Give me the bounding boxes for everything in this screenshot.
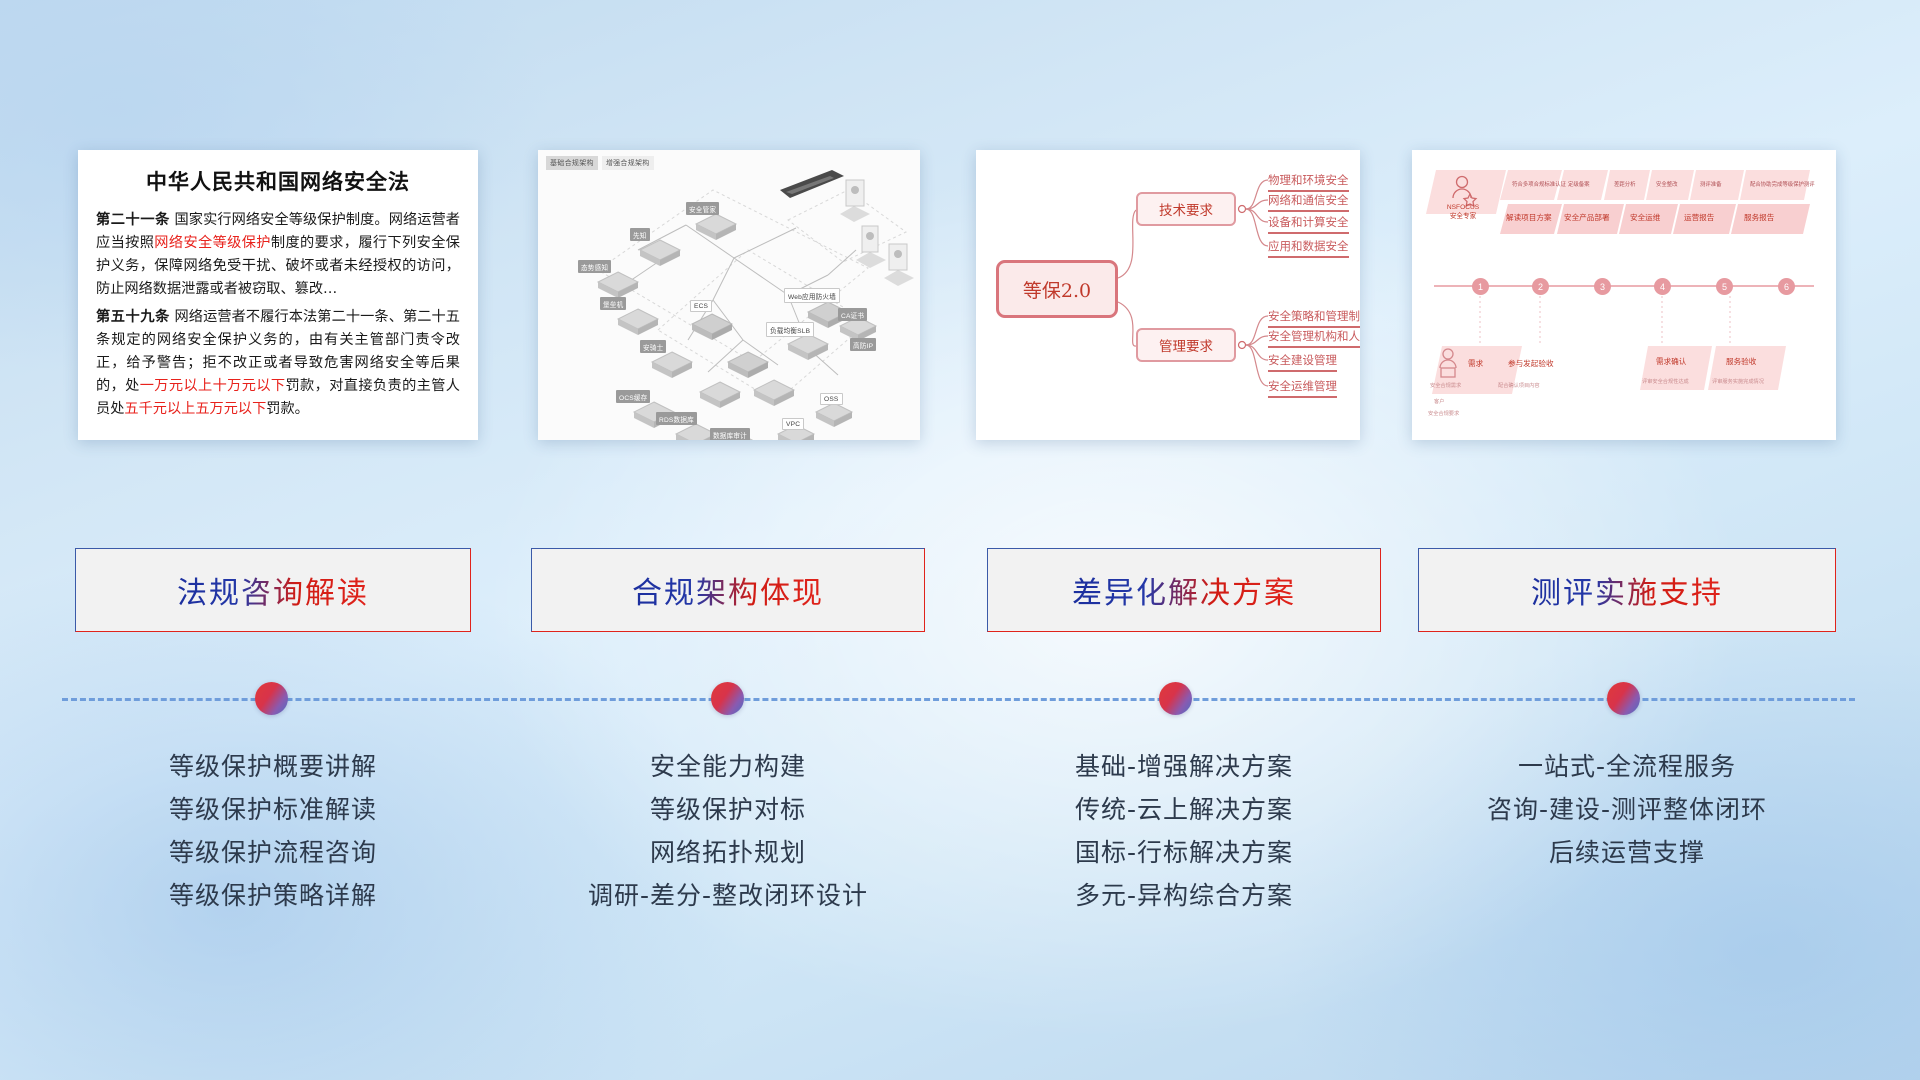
section-title-1: 法规咨询解读	[177, 568, 369, 612]
list-item: 等级保护标准解读	[75, 788, 471, 831]
section-title-2: 合规架构体现	[632, 568, 824, 612]
section-title-box-2[interactable]: 合规架构体现	[531, 548, 925, 632]
section-title-3: 差异化解决方案	[1072, 568, 1296, 612]
list-item: 等级保护概要讲解	[75, 745, 471, 788]
section-items-3: 基础-增强解决方案 传统-云上解决方案 国标-行标解决方案 多元-异构综合方案	[987, 745, 1381, 917]
section-title-box-4[interactable]: 测评实施支持	[1418, 548, 1836, 632]
timeline-marker-1[interactable]	[255, 682, 288, 715]
list-item: 后续运营支撑	[1418, 831, 1836, 874]
list-item: 咨询-建设-测评整体闭环	[1418, 788, 1836, 831]
list-item: 基础-增强解决方案	[987, 745, 1381, 788]
list-item: 等级保护流程咨询	[75, 831, 471, 874]
list-item: 调研-差分-整改闭环设计	[531, 874, 925, 917]
list-item: 国标-行标解决方案	[987, 831, 1381, 874]
list-item: 一站式-全流程服务	[1418, 745, 1836, 788]
section-title-box-3[interactable]: 差异化解决方案	[987, 548, 1381, 632]
section-items-1: 等级保护概要讲解 等级保护标准解读 等级保护流程咨询 等级保护策略详解	[75, 745, 471, 917]
list-item: 网络拓扑规划	[531, 831, 925, 874]
section-items-4: 一站式-全流程服务 咨询-建设-测评整体闭环 后续运营支撑	[1418, 745, 1836, 874]
list-item: 多元-异构综合方案	[987, 874, 1381, 917]
section-title-box-1[interactable]: 法规咨询解读	[75, 548, 471, 632]
section-title-4: 测评实施支持	[1531, 568, 1723, 612]
timeline-marker-4[interactable]	[1607, 682, 1640, 715]
list-item: 安全能力构建	[531, 745, 925, 788]
list-item: 传统-云上解决方案	[987, 788, 1381, 831]
timeline-marker-2[interactable]	[711, 682, 744, 715]
section-items-2: 安全能力构建 等级保护对标 网络拓扑规划 调研-差分-整改闭环设计	[531, 745, 925, 917]
list-item: 等级保护策略详解	[75, 874, 471, 917]
list-item: 等级保护对标	[531, 788, 925, 831]
timeline-marker-3[interactable]	[1159, 682, 1192, 715]
timeline-dashed-line	[62, 698, 1855, 701]
section-title-row: 法规咨询解读 合规架构体现 差异化解决方案 测评实施支持 等级保护概要讲解 等级…	[0, 0, 1920, 1080]
